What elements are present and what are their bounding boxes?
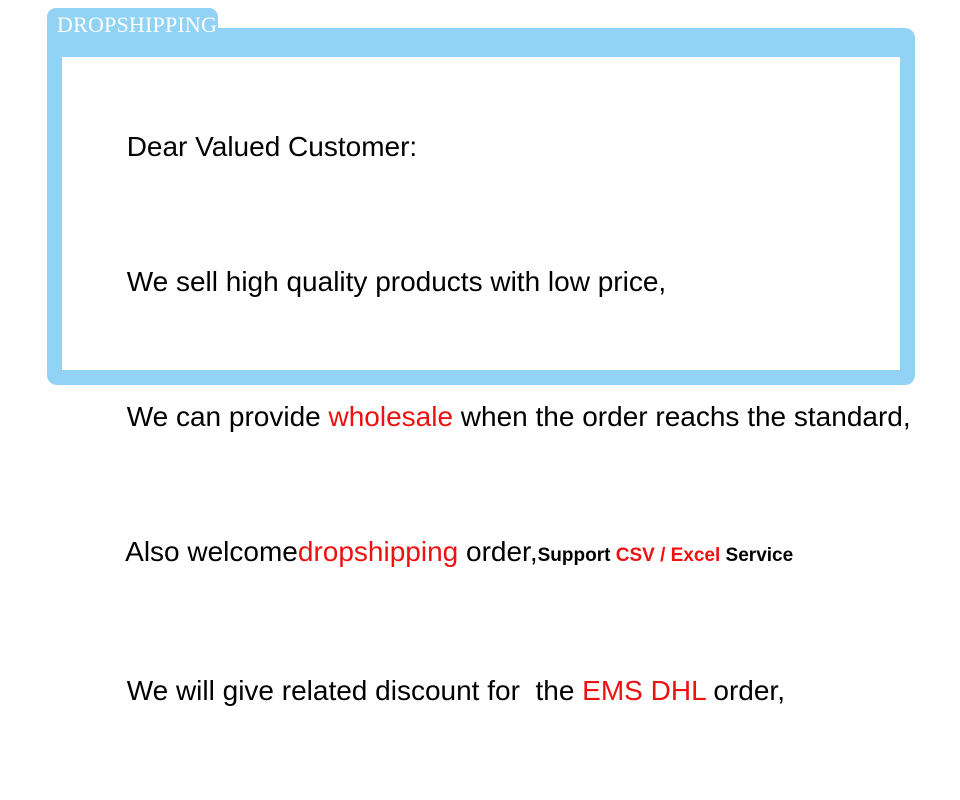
dropshipping-tab-label: DROPSHIPPING: [57, 9, 218, 41]
message-line-shipping: We will give related discount for the EM…: [80, 623, 900, 758]
wholesale-highlight: wholesale: [329, 401, 454, 432]
shipping-suffix: order,: [706, 675, 785, 706]
message-line-greeting: Dear Valued Customer:: [80, 79, 900, 214]
wholesale-suffix: when the order reachs the standard,: [453, 401, 911, 432]
service-label: Service: [720, 545, 793, 566]
dropshipping-tab: DROPSHIPPING: [47, 8, 218, 42]
dropshipping-highlight: dropshipping: [298, 536, 458, 567]
greeting-text: Dear Valued Customer:: [127, 131, 418, 162]
message-line-dropshipping: Also welcomedropshipping order,Support C…: [80, 484, 900, 623]
dropshipping-banner: DROPSHIPPING Dear Valued Customer: We se…: [0, 0, 960, 400]
wholesale-prefix: We can provide: [127, 401, 329, 432]
support-label: Support: [538, 545, 616, 566]
message-panel: Dear Valued Customer: We sell high quali…: [62, 57, 900, 370]
dropshipping-suffix: order,: [458, 536, 537, 567]
message-line-thanks: Thank you!: [80, 758, 900, 800]
ems-dhl-highlight: EMS DHL: [582, 675, 705, 706]
shipping-prefix: We will give related discount for the: [127, 675, 582, 706]
message-line-wholesale: We can provide wholesale when the order …: [80, 349, 900, 484]
csv-excel-highlight: CSV / Excel: [616, 545, 721, 566]
message-line-quality: We sell high quality products with low p…: [80, 214, 900, 349]
dropshipping-prefix: Also welcome: [125, 536, 298, 567]
quality-text: We sell high quality products with low p…: [127, 266, 667, 297]
